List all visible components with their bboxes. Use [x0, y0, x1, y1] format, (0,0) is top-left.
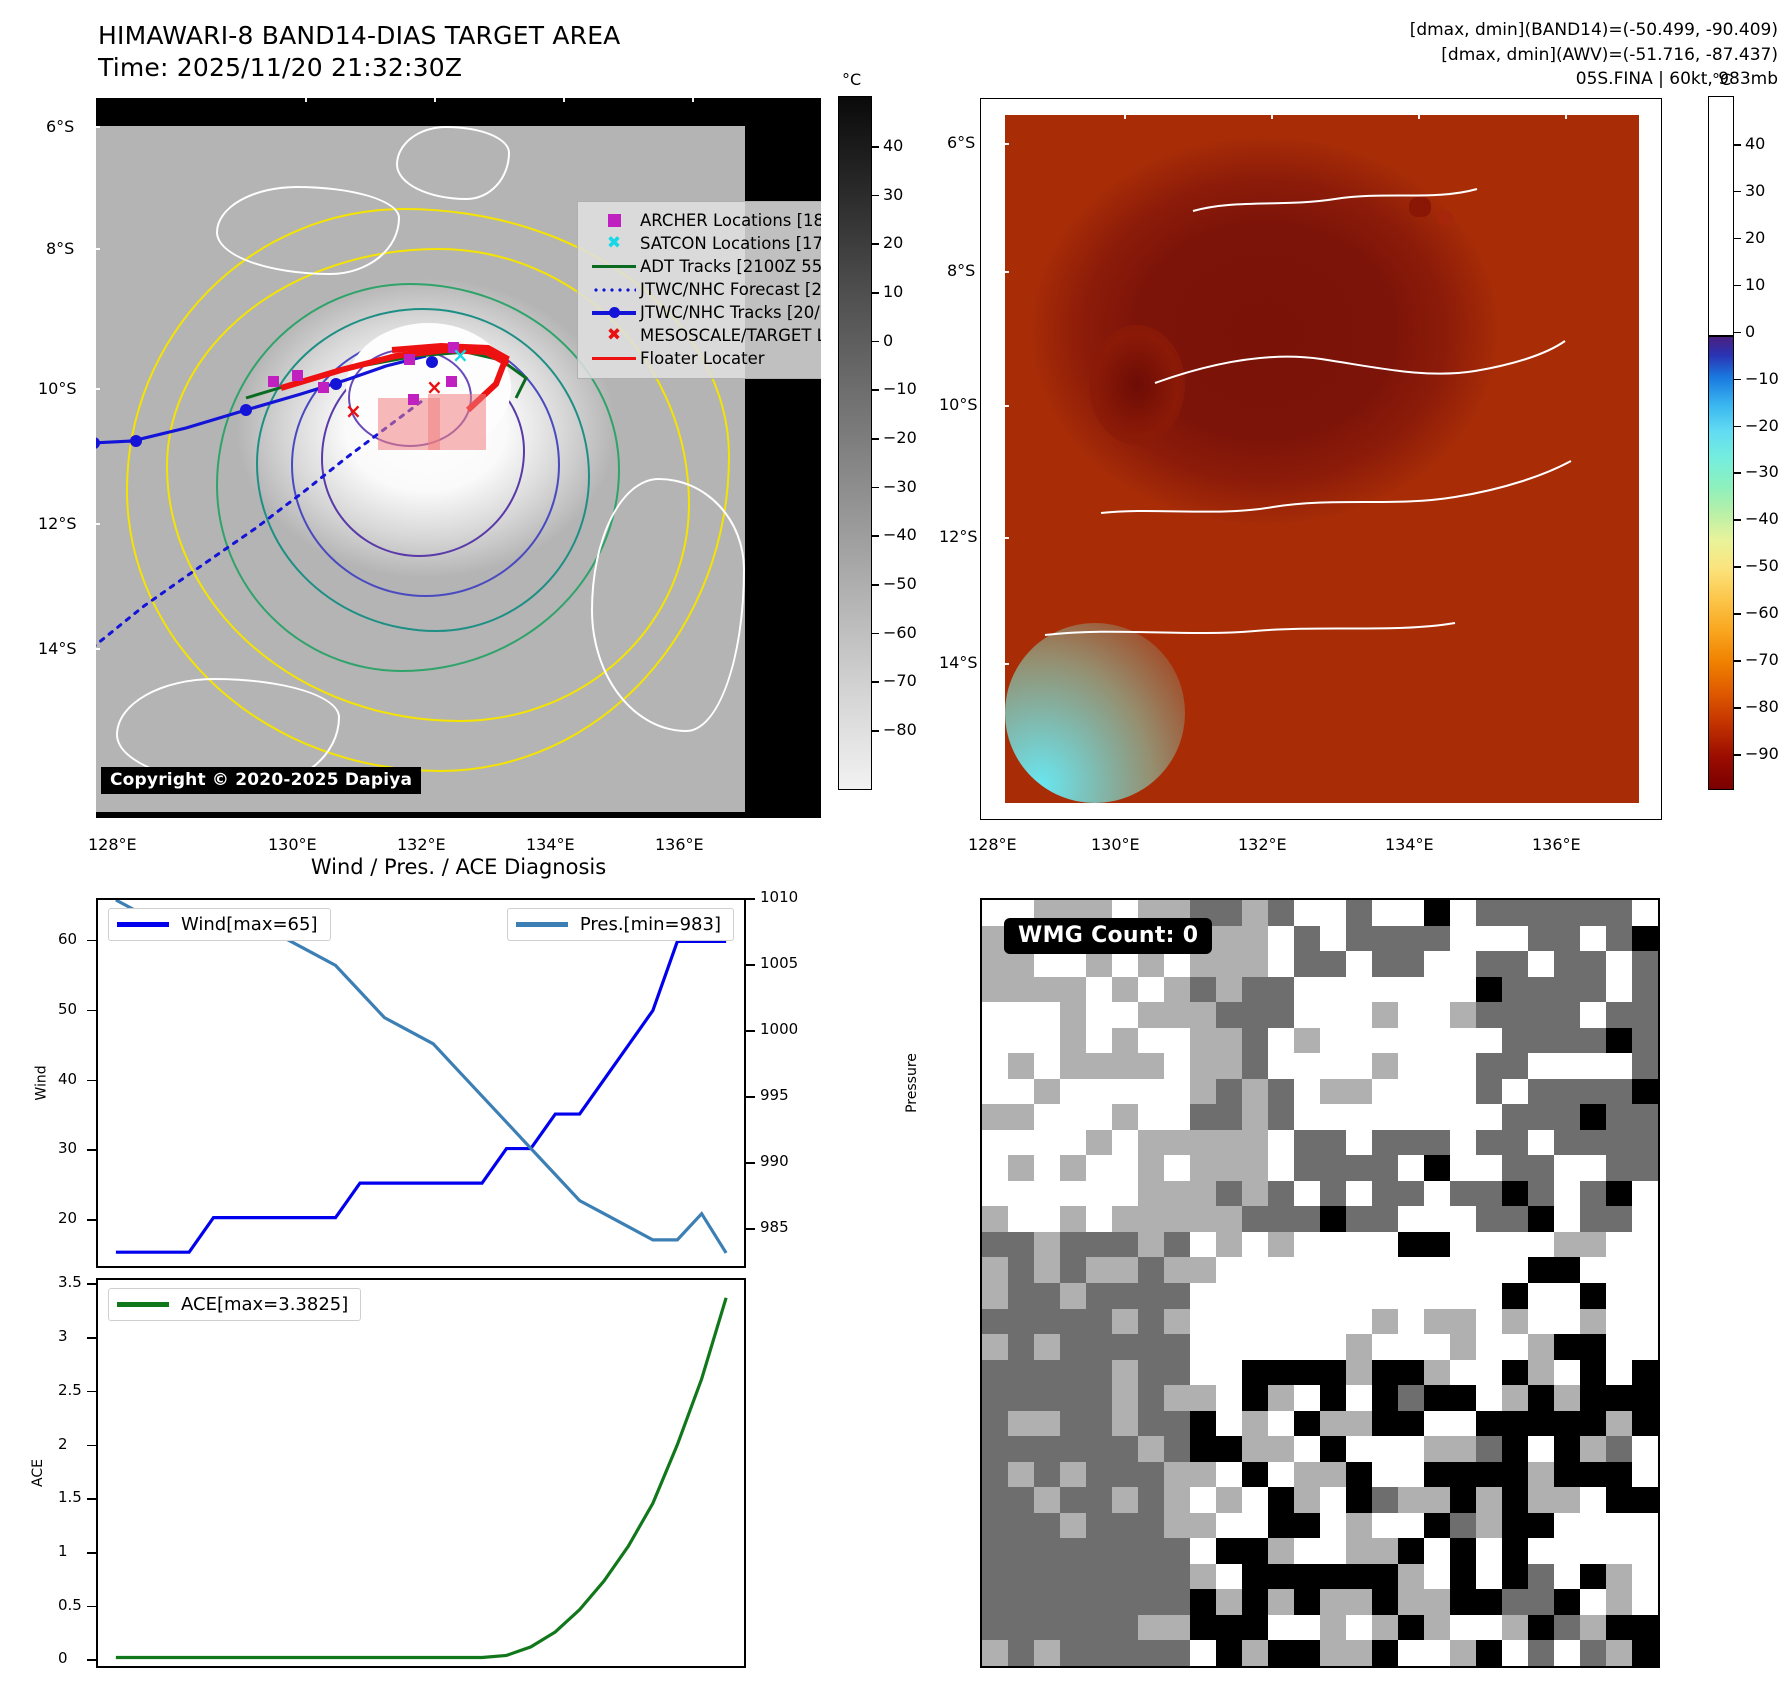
axis-tick-label: 3.5: [58, 1273, 82, 1291]
wmg-cell: [982, 1155, 1009, 1181]
wmg-cell: [1034, 1053, 1061, 1079]
wmg-cell: [1320, 1002, 1347, 1028]
wmg-cell: [1398, 1155, 1425, 1181]
colorbar-tick-label: −40: [883, 525, 917, 544]
wmg-cell: [1372, 1436, 1399, 1462]
wmg-cell: [1190, 1309, 1217, 1335]
awv-lat-label: 10°S: [939, 395, 978, 414]
wmg-cell: [1242, 1309, 1269, 1335]
wmg-cell: [1112, 977, 1139, 1003]
wmg-cell: [1164, 1360, 1191, 1386]
wmg-cell: [1060, 1360, 1087, 1386]
wmg-cell: [1476, 1130, 1503, 1156]
wmg-cell: [1060, 1640, 1087, 1666]
ace-plot-area: ACE[max=3.3825]: [96, 1278, 746, 1668]
wmg-cell: [1190, 1206, 1217, 1232]
wmg-cell: [1242, 1257, 1269, 1283]
colorbar-tick-label: −40: [1745, 509, 1779, 528]
wmg-cell: [1242, 1181, 1269, 1207]
wmg-cell: [1502, 1334, 1529, 1360]
wmg-cell: [1320, 1232, 1347, 1258]
wmg-cell: [1086, 1181, 1113, 1207]
wmg-cell: [1216, 1513, 1243, 1539]
wmg-cell: [1424, 1002, 1451, 1028]
wmg-cell: [1554, 1564, 1581, 1590]
wmg-cell: [1320, 1257, 1347, 1283]
wmg-cell: [1580, 1615, 1607, 1641]
colorbar-tick-mark: [872, 584, 879, 586]
wmg-cell: [1268, 1462, 1295, 1488]
wmg-cell: [1398, 1283, 1425, 1309]
wmg-cell: [1476, 1206, 1503, 1232]
wmg-cell: [1216, 1360, 1243, 1386]
wmg-cell: [1190, 1411, 1217, 1437]
wmg-cell: [1450, 977, 1477, 1003]
axis-tick-mark: [87, 1391, 96, 1393]
wmg-cell: [1502, 1155, 1529, 1181]
wmg-cell: [1242, 1334, 1269, 1360]
wmg-cell: [1398, 1028, 1425, 1054]
ir-colorbar-ticks: 403020100−10−20−30−40−50−60−70−80: [872, 96, 932, 790]
ir-colorbar-gradient: [838, 96, 872, 790]
wmg-cell: [1268, 1181, 1295, 1207]
ir-legend[interactable]: ARCHER Locations [1843Z] ✖ SATCON Locati…: [577, 201, 821, 379]
wmg-cell: [1476, 1283, 1503, 1309]
wmg-cell: [1138, 1436, 1165, 1462]
wmg-cell: [1528, 1640, 1555, 1666]
wmg-cell: [1554, 1411, 1581, 1437]
wmg-cell: [982, 1257, 1009, 1283]
wmg-cell: [1216, 1079, 1243, 1105]
awv-imagery: [1005, 115, 1639, 803]
wmg-cell: [1424, 1181, 1451, 1207]
wmg-cell: [1008, 1206, 1035, 1232]
wmg-cell: [1242, 1564, 1269, 1590]
wmg-count-badge: WMG Count: 0: [1004, 918, 1212, 954]
wmg-cell: [1580, 926, 1607, 952]
wmg-cell: [1554, 1640, 1581, 1666]
wmg-cell: [1450, 1257, 1477, 1283]
wmg-cell: [1632, 1487, 1659, 1513]
axis-tick-mark: [87, 1659, 96, 1661]
wmg-cell: [1268, 1232, 1295, 1258]
coastline-path: [1045, 623, 1455, 635]
colorbar-tick-label: −80: [883, 720, 917, 739]
wmg-cell: [1450, 1232, 1477, 1258]
awv-lat-label: 8°S: [947, 261, 975, 280]
wmg-cell: [1606, 951, 1633, 977]
infrared-satellite-panel[interactable]: × × × ARCHER Locations [1843Z] ✖ SATCON …: [96, 98, 821, 818]
wmg-cell: [1450, 1181, 1477, 1207]
wmg-cell: [1034, 1589, 1061, 1615]
colorbar-tick-label: −60: [1745, 603, 1779, 622]
grid-line-lon-136: [1565, 115, 1567, 803]
wmg-cell: [1580, 977, 1607, 1003]
wmg-cell: [1606, 1283, 1633, 1309]
legend-item-adt: ADT Tracks [2100Z 55.0 991.9]: [588, 255, 821, 278]
wmg-cell: [1216, 1206, 1243, 1232]
axis-tick-mark: [87, 1498, 96, 1500]
colorbar-tick-mark: [872, 487, 879, 489]
wmg-cell: [1580, 1640, 1607, 1666]
wmg-cell: [1112, 1002, 1139, 1028]
wmg-cell: [1580, 1155, 1607, 1181]
wmg-cell: [1216, 900, 1243, 926]
wmg-cell: [982, 1538, 1009, 1564]
wmg-cell: [1606, 1028, 1633, 1054]
wmg-cell: [1112, 951, 1139, 977]
wmg-cell: [1320, 1564, 1347, 1590]
wmg-cell: [1554, 1513, 1581, 1539]
wmg-cell: [1320, 977, 1347, 1003]
axis-tick-label: 2: [58, 1435, 68, 1453]
wmg-cell: [1554, 1181, 1581, 1207]
wmg-cell: [1606, 1155, 1633, 1181]
wmg-cell: [1216, 1309, 1243, 1335]
axis-tick-label: 1000: [760, 1020, 798, 1038]
wmg-cell: [982, 1385, 1009, 1411]
wmg-cell: [1008, 1385, 1035, 1411]
wmg-cell: [1112, 1589, 1139, 1615]
wmg-cell: [1424, 1615, 1451, 1641]
wmg-cell: [1294, 1309, 1321, 1335]
wmg-cell: [1606, 1436, 1633, 1462]
pressure-legend[interactable]: Pres.[min=983]: [507, 908, 734, 941]
wmg-cell: [1528, 1615, 1555, 1641]
wmg-cell: [1372, 1309, 1399, 1335]
wmg-cell: [1216, 1053, 1243, 1079]
colorbar-tick-mark: [1734, 426, 1741, 428]
wmg-cell: [1424, 1360, 1451, 1386]
wmg-cell: [1138, 1257, 1165, 1283]
wmg-cell: [1008, 1309, 1035, 1335]
water-vapor-panel[interactable]: [980, 98, 1662, 820]
wmg-cell: [1138, 1411, 1165, 1437]
ir-lon-label: 136°E: [655, 835, 704, 854]
wmg-cell: [1606, 1615, 1633, 1641]
mesoscale-target-marker: ×: [426, 375, 443, 399]
wmg-cell: [1580, 1053, 1607, 1079]
wmg-cell: [1086, 1360, 1113, 1386]
wmg-cell: [1034, 1130, 1061, 1156]
wmg-cell: [1580, 1309, 1607, 1335]
wmg-cell: [1606, 1002, 1633, 1028]
wmg-cell: [1190, 1615, 1217, 1641]
ace-legend[interactable]: ACE[max=3.3825]: [108, 1288, 361, 1321]
wmg-cell: [1450, 1513, 1477, 1539]
wind-pressure-chart[interactable]: Wind[max=65] Pres.[min=983] Wind Pressur…: [96, 898, 856, 1268]
colorbar-tick-label: 20: [883, 233, 903, 252]
wmg-cell: [1632, 1155, 1659, 1181]
wmg-cell: [1190, 1589, 1217, 1615]
wmg-cell: [1138, 1181, 1165, 1207]
wmg-cell: [1398, 1436, 1425, 1462]
wmg-cell: [1008, 1334, 1035, 1360]
wmg-cell: [1034, 1538, 1061, 1564]
wmg-cell: [982, 1232, 1009, 1258]
wmg-cell: [1008, 1130, 1035, 1156]
axis-tick-mark: [87, 1283, 96, 1285]
wmg-cell: [1502, 1130, 1529, 1156]
wmg-cell: [1268, 1155, 1295, 1181]
wmg-cell: [1268, 1487, 1295, 1513]
wmg-cell: [1112, 1640, 1139, 1666]
wmg-cell: [1086, 1334, 1113, 1360]
wmg-cell: [1008, 1079, 1035, 1105]
wmg-cell: [1112, 1411, 1139, 1437]
grid-line-lat-6s: [1005, 143, 1639, 145]
wmg-cell: [1372, 1462, 1399, 1488]
wmg-cell: [1034, 1640, 1061, 1666]
wmg-cell: [982, 1411, 1009, 1437]
coastline-path: [1155, 341, 1565, 383]
wmg-cell: [1216, 1385, 1243, 1411]
colorbar-tick-mark: [1734, 472, 1741, 474]
wmg-cell: [1034, 1360, 1061, 1386]
wmg-cell: [1424, 977, 1451, 1003]
wmg-cell: [1086, 1130, 1113, 1156]
wmg-cell: [1580, 1334, 1607, 1360]
wmg-cell: [1528, 951, 1555, 977]
wmg-cell: [1268, 926, 1295, 952]
wmg-cell: [1164, 977, 1191, 1003]
wmg-cell: [1242, 1283, 1269, 1309]
wmg-cell: [1242, 1079, 1269, 1105]
wmg-cell: [1294, 1411, 1321, 1437]
wmg-cell: [1242, 1232, 1269, 1258]
wmg-cell: [1554, 1002, 1581, 1028]
wmg-cell: [1320, 1385, 1347, 1411]
wmg-cell: [1632, 1436, 1659, 1462]
wmg-cell: [1320, 1513, 1347, 1539]
wmg-cell: [1580, 1232, 1607, 1258]
wmg-cell: [1372, 1487, 1399, 1513]
wmg-cell: [1060, 1462, 1087, 1488]
wmg-cell: [1372, 1513, 1399, 1539]
wmg-cell: [1554, 977, 1581, 1003]
wmg-cell: [1476, 951, 1503, 977]
wmg-cell: [1034, 1104, 1061, 1130]
wmg-cell: [1268, 1028, 1295, 1054]
wmg-cell: [1450, 1538, 1477, 1564]
wmg-cell: [1294, 1334, 1321, 1360]
axis-tick-mark: [746, 1096, 755, 1098]
wmg-cell: [1138, 1487, 1165, 1513]
awv-coastline-overlay: [1005, 115, 1639, 803]
wmg-cell: [1164, 1564, 1191, 1590]
wmg-cell: [1632, 1589, 1659, 1615]
wmg-cell: [1190, 1155, 1217, 1181]
colorbar-tick-mark: [872, 292, 879, 294]
wmg-cell: [1242, 1487, 1269, 1513]
ir-lat-label: 6°S: [46, 117, 74, 136]
colorbar-tick-mark: [1734, 238, 1741, 240]
wmg-cell: [1398, 1462, 1425, 1488]
wmg-cell: [1632, 977, 1659, 1003]
wmg-cell: [1008, 1640, 1035, 1666]
wmg-cell: [1606, 1232, 1633, 1258]
wmg-cell: [1060, 1283, 1087, 1309]
wmg-cell: [1372, 1360, 1399, 1386]
wmg-cell: [1216, 1232, 1243, 1258]
wmg-cell: [1476, 926, 1503, 952]
wmg-cell: [1346, 1462, 1373, 1488]
wmg-cell: [1580, 1564, 1607, 1590]
wmg-cell: [1190, 1028, 1217, 1054]
jtwc-track-point: [240, 404, 252, 416]
wmg-cell: [1398, 977, 1425, 1003]
wmg-cell: [1164, 1028, 1191, 1054]
wmg-cell: [1424, 1513, 1451, 1539]
wmg-cell: [1320, 1155, 1347, 1181]
wmg-cell: [1372, 1104, 1399, 1130]
wmg-cell: [1424, 1385, 1451, 1411]
wmg-cell: [1528, 1155, 1555, 1181]
wmg-cell: [1242, 1130, 1269, 1156]
wmg-cell: [1164, 1513, 1191, 1539]
archer-marker: [318, 382, 329, 393]
wmg-cell: [1112, 1104, 1139, 1130]
wmg-cell: [1190, 1079, 1217, 1105]
jtwc-forecast-line: [96, 398, 426, 648]
wmg-cell: [1242, 1462, 1269, 1488]
wmg-cell: [1164, 1538, 1191, 1564]
wmg-cell: [1502, 1181, 1529, 1207]
wmg-cell: [1632, 926, 1659, 952]
wmg-cell: [1060, 1181, 1087, 1207]
wmg-cell: [1034, 1334, 1061, 1360]
wmg-cell: [1138, 1104, 1165, 1130]
axis-tick-mark: [87, 1219, 96, 1221]
wmg-cell: [1294, 1053, 1321, 1079]
wmg-cell: [1112, 1360, 1139, 1386]
wmg-cell: [1034, 1283, 1061, 1309]
wmg-cell: [1268, 1538, 1295, 1564]
wmg-cell: [1424, 1283, 1451, 1309]
wmg-cell: [1112, 1130, 1139, 1156]
colorbar-tick-mark: [872, 389, 879, 391]
wmg-cell: [1268, 1360, 1295, 1386]
wmg-cell: [1632, 1206, 1659, 1232]
legend-label: ADT Tracks [2100Z 55.0 991.9]: [640, 257, 821, 276]
wmg-cell: [1086, 1411, 1113, 1437]
wmg-cell: [1242, 1538, 1269, 1564]
wmg-cell: [1450, 1079, 1477, 1105]
wmg-cell: [1242, 1002, 1269, 1028]
wmg-cell: [982, 1360, 1009, 1386]
wmg-cell: [1606, 1181, 1633, 1207]
wmg-cell: [1580, 1462, 1607, 1488]
wmg-cell: [1164, 1283, 1191, 1309]
wmg-cell: [1164, 1155, 1191, 1181]
wmg-cell: [1502, 951, 1529, 977]
axis-tick-mark: [87, 1606, 96, 1608]
wmg-cell: [1242, 1360, 1269, 1386]
wmg-cell: [1112, 1283, 1139, 1309]
wmg-cell: [1294, 977, 1321, 1003]
wmg-cell: [1268, 1002, 1295, 1028]
wmg-cell: [1008, 1232, 1035, 1258]
axis-tick-mark: [87, 1552, 96, 1554]
awv-lon-label: 134°E: [1385, 835, 1434, 854]
wmg-cell: [1554, 1155, 1581, 1181]
wmg-cell: [1476, 1232, 1503, 1258]
wmg-cell: [1034, 1564, 1061, 1590]
wmg-cell: [1580, 1360, 1607, 1386]
archer-marker: [404, 354, 415, 365]
wmg-cell: [1086, 1155, 1113, 1181]
colorbar-tick-mark: [872, 438, 879, 440]
legend-label: Floater Locater: [640, 349, 765, 368]
wmg-cell: [1164, 1411, 1191, 1437]
wmg-cell: [1320, 1130, 1347, 1156]
wmg-cell: [1112, 1385, 1139, 1411]
wmg-cell: [1268, 1411, 1295, 1437]
wmg-cell: [1008, 1589, 1035, 1615]
wmg-cell: [1034, 1028, 1061, 1054]
wmg-cell: [1164, 1309, 1191, 1335]
wind-pressure-plot-area: Wind[max=65] Pres.[min=983]: [96, 898, 746, 1268]
wmg-cell: [1346, 1411, 1373, 1437]
wmg-cell: [1346, 1130, 1373, 1156]
wmg-cell: [1060, 1436, 1087, 1462]
wind-legend[interactable]: Wind[max=65]: [108, 908, 331, 941]
wmg-cell: [1346, 1257, 1373, 1283]
wmg-cell: [1112, 1436, 1139, 1462]
wmg-cell: [1606, 1206, 1633, 1232]
wmg-cell: [1476, 900, 1503, 926]
wmg-cell: [1346, 977, 1373, 1003]
wmg-cell: [1580, 1411, 1607, 1437]
wmg-cell: [1138, 1513, 1165, 1539]
ace-axis-label: ACE: [30, 1459, 46, 1487]
wmg-cell: [1294, 1079, 1321, 1105]
wmg-cell: [1112, 1513, 1139, 1539]
grid-line-lon-134: [1418, 115, 1420, 803]
wmg-cell: [1008, 1028, 1035, 1054]
awv-colorbar-gradient: [1708, 336, 1734, 790]
wmg-cell: [1476, 1564, 1503, 1590]
ace-chart[interactable]: ACE[max=3.3825] ACE 00.511.522.533.5: [96, 1278, 856, 1668]
wmg-cell: [982, 1589, 1009, 1615]
wmg-cell: [1554, 1385, 1581, 1411]
wmg-cell: [1060, 977, 1087, 1003]
wmg-cell: [1528, 1104, 1555, 1130]
wmg-cell: [1450, 1206, 1477, 1232]
wmg-cell: [1320, 1334, 1347, 1360]
wmg-cell: [1268, 1589, 1295, 1615]
wmg-cell: [1086, 1538, 1113, 1564]
wmg-cell: [1190, 1538, 1217, 1564]
wmg-panel[interactable]: WMG Count: 0: [980, 898, 1660, 1668]
wmg-cell: [1528, 1538, 1555, 1564]
wmg-cell: [982, 1079, 1009, 1105]
wind-axis-label: Wind: [34, 1065, 50, 1100]
wmg-cell: [1086, 1002, 1113, 1028]
wmg-cell: [1320, 1615, 1347, 1641]
wmg-cell: [1008, 1002, 1035, 1028]
wmg-cell: [1502, 1232, 1529, 1258]
colorbar-tick-label: −10: [883, 379, 917, 398]
wmg-cell: [1034, 1181, 1061, 1207]
wmg-cell: [1398, 1385, 1425, 1411]
wmg-cell: [1398, 1002, 1425, 1028]
wmg-cell: [1086, 1513, 1113, 1539]
wmg-cell: [1216, 1436, 1243, 1462]
wmg-cell: [1190, 1487, 1217, 1513]
wmg-cell: [1268, 1334, 1295, 1360]
wmg-cell: [1190, 1283, 1217, 1309]
